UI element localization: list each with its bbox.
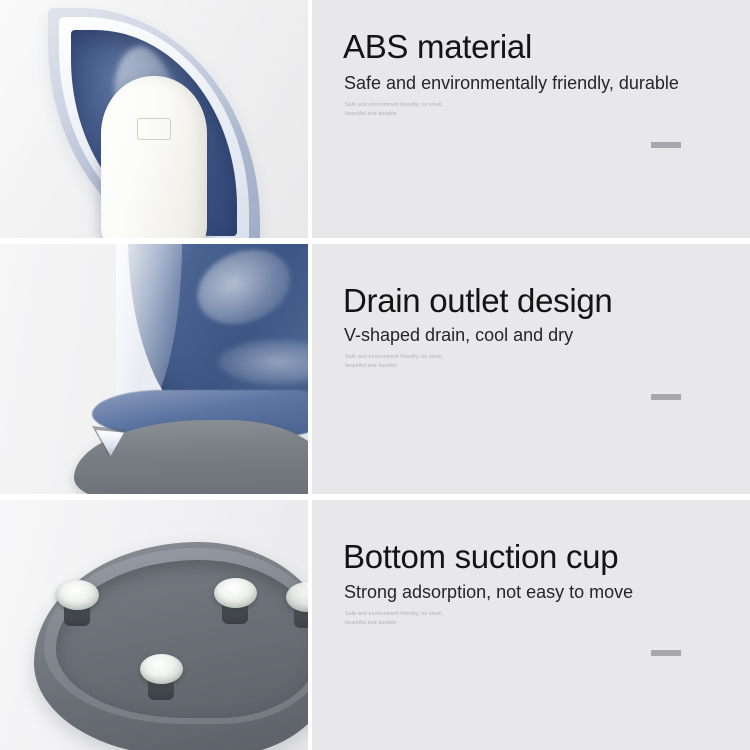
suction-cup-pad xyxy=(214,578,257,608)
microcopy-line-2: beautiful and durable xyxy=(345,619,443,628)
feature-section-abs-material: ABS material Safe and environmentally fr… xyxy=(0,0,750,238)
soap-bar-emboss xyxy=(137,118,171,140)
feature-copy-abs-material: ABS material Safe and environmentally fr… xyxy=(312,0,750,238)
feature-section-drain-outlet-design: Drain outlet design V-shaped drain, cool… xyxy=(0,244,750,494)
feature-section-bottom-suction-cup: Bottom suction cup Strong adsorption, no… xyxy=(0,500,750,750)
feature-microcopy: Safe and environment friendly, no smell,… xyxy=(345,353,443,371)
feature-headline: Drain outlet design xyxy=(343,284,612,317)
product-photo-drain-outlet xyxy=(0,244,308,494)
product-feature-infographic: ABS material Safe and environmentally fr… xyxy=(0,0,750,750)
feature-headline: ABS material xyxy=(343,30,532,63)
product-photo-suction-cups xyxy=(0,500,308,750)
feature-copy-bottom-suction-cup: Bottom suction cup Strong adsorption, no… xyxy=(312,500,750,750)
feature-accent-rule xyxy=(651,394,681,400)
microcopy-line-1: Safe and environment friendly, no smell, xyxy=(345,353,443,362)
feature-microcopy: Safe and environment friendly, no smell,… xyxy=(345,610,443,628)
feature-microcopy: Safe and environment friendly, no smell,… xyxy=(345,101,443,119)
feature-copy-drain-outlet-design: Drain outlet design V-shaped drain, cool… xyxy=(312,244,750,494)
feature-subhead: Safe and environmentally friendly, durab… xyxy=(344,74,679,92)
feature-subhead: V-shaped drain, cool and dry xyxy=(344,326,573,344)
feature-subhead: Strong adsorption, not easy to move xyxy=(344,583,633,601)
microcopy-line-1: Safe and environment friendly, no smell, xyxy=(345,101,443,110)
microcopy-line-2: beautiful and durable xyxy=(345,362,443,371)
suction-cup-pad xyxy=(140,654,183,684)
microcopy-line-1: Safe and environment friendly, no smell, xyxy=(345,610,443,619)
product-photo-soap-dish xyxy=(0,0,308,238)
soap-bar xyxy=(101,76,207,238)
feature-accent-rule xyxy=(651,650,681,656)
microcopy-line-2: beautiful and durable xyxy=(345,110,443,119)
feature-accent-rule xyxy=(651,142,681,148)
feature-headline: Bottom suction cup xyxy=(343,540,618,573)
suction-cup-pad xyxy=(56,580,99,610)
